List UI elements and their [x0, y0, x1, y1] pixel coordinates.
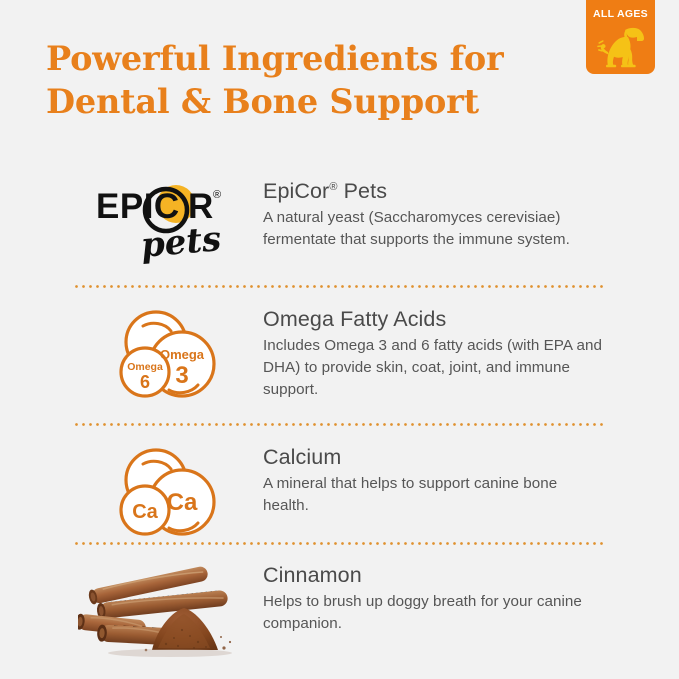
ingredient-desc-cinnamon: Helps to brush up doggy breath for your … [263, 591, 605, 634]
calcium-text-cell: Calcium A mineral that helps to support … [263, 444, 605, 517]
omega-3-label-line2: 3 [175, 362, 188, 389]
page-title: Powerful Ingredients for Dental & Bone S… [46, 38, 586, 124]
page-title-line-2: Dental & Bone Support [46, 81, 586, 124]
svg-text:pets: pets [139, 219, 222, 264]
ingredient-title-cinnamon: Cinnamon [263, 563, 605, 588]
cinnamon-sticks-image [78, 562, 258, 658]
omega-3-label-line1: Omega [160, 347, 205, 362]
ingredient-row-cinnamon: Cinnamon Helps to brush up doggy breath … [73, 562, 605, 658]
row-divider-2 [73, 423, 604, 426]
ingredient-row-calcium: Ca Ca Calcium A mineral that helps to su… [73, 444, 605, 548]
omega-circles-icon: Omega 3 Omega 6 [112, 306, 224, 410]
ingredient-title-omega: Omega Fatty Acids [263, 307, 605, 332]
epicor-pets-logo-icon: EPIC R ® pets [92, 178, 244, 264]
epicor-icon-cell: EPIC R ® pets [73, 178, 263, 264]
svg-text:EPIC: EPIC [96, 187, 180, 226]
epicor-title-main: EpiCor [263, 179, 329, 203]
cinnamon-text-cell: Cinnamon Helps to brush up doggy breath … [263, 562, 605, 635]
registered-mark: ® [329, 181, 337, 193]
epicor-title-rest: Pets [338, 179, 388, 203]
row-divider-3 [73, 542, 604, 545]
calcium-icon-cell: Ca Ca [73, 444, 263, 548]
epicor-text-cell: EpiCor® Pets A natural yeast (Saccharomy… [263, 178, 605, 251]
ingredient-row-epicor: EPIC R ® pets EpiCor® Pets A natural yea… [73, 178, 605, 264]
ingredient-title-calcium: Calcium [263, 445, 605, 470]
ingredient-desc-omega: Includes Omega 3 and 6 fatty acids (with… [263, 335, 605, 400]
all-ages-badge-label: ALL AGES [593, 9, 648, 20]
ingredient-desc-calcium: A mineral that helps to support canine b… [263, 473, 605, 516]
page-title-line-1: Powerful Ingredients for [46, 38, 586, 81]
svg-text:®: ® [213, 189, 221, 201]
omega-6-label-line2: 6 [140, 372, 150, 392]
omega-icon-cell: Omega 3 Omega 6 [73, 306, 263, 410]
row-divider-1 [73, 285, 604, 288]
all-ages-badge: ALL AGES [586, 0, 655, 74]
calcium-label-right: Ca [167, 489, 198, 516]
infographic-page: ALL AGES [0, 0, 679, 679]
sitting-dog-icon [595, 24, 647, 69]
ingredient-desc-epicor: A natural yeast (Saccharomyces cerevisia… [263, 207, 605, 250]
calcium-label-left: Ca [132, 501, 158, 523]
omega-text-cell: Omega Fatty Acids Includes Omega 3 and 6… [263, 306, 605, 400]
calcium-circles-icon: Ca Ca [112, 444, 224, 548]
ingredient-title-epicor: EpiCor® Pets [263, 179, 605, 204]
ingredient-row-omega: Omega 3 Omega 6 Omega Fatty Acids Includ… [73, 306, 605, 410]
cinnamon-icon-cell [73, 562, 263, 658]
